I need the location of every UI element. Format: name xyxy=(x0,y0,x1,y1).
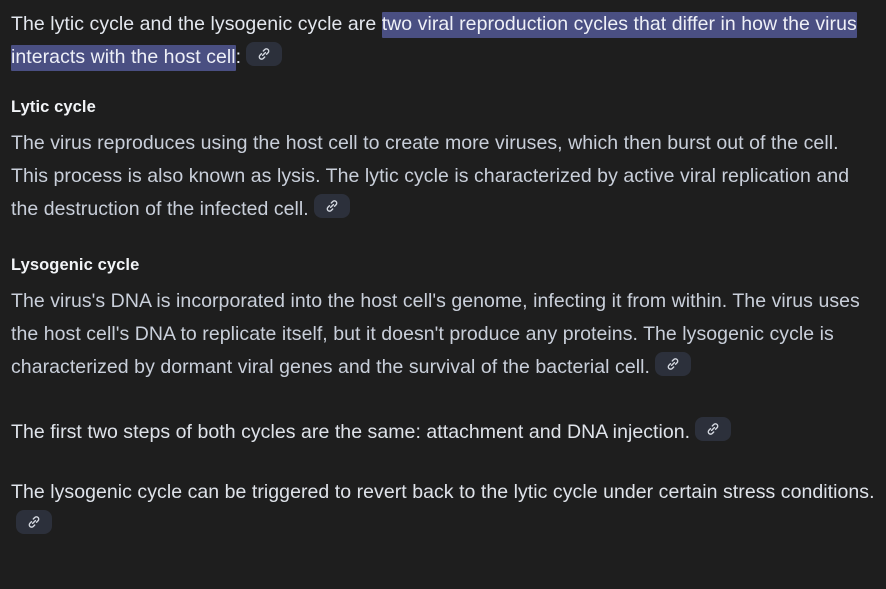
section-body-lysogenic-text: The virus's DNA is incorporated into the… xyxy=(11,290,860,378)
section-body-lytic-text: The virus reproduces using the host cell… xyxy=(11,132,849,220)
note-paragraph-2: The lysogenic cycle can be triggered to … xyxy=(11,476,875,542)
link-icon[interactable] xyxy=(16,510,52,534)
lead-text-after: : xyxy=(236,46,241,68)
link-icon[interactable] xyxy=(246,42,282,66)
link-icon[interactable] xyxy=(655,352,691,376)
link-icon[interactable] xyxy=(314,194,350,218)
note-paragraph-1-text: The first two steps of both cycles are t… xyxy=(11,421,690,443)
section-heading-lysogenic: Lysogenic cycle xyxy=(11,254,875,276)
link-icon[interactable] xyxy=(695,417,731,441)
note-paragraph-2-text: The lysogenic cycle can be triggered to … xyxy=(11,481,875,503)
lead-text-before: The lytic cycle and the lysogenic cycle … xyxy=(11,13,382,35)
section-body-lysogenic: The virus's DNA is incorporated into the… xyxy=(11,285,875,384)
note-paragraph-1: The first two steps of both cycles are t… xyxy=(11,416,875,449)
section-body-lytic: The virus reproduces using the host cell… xyxy=(11,127,875,226)
lead-paragraph: The lytic cycle and the lysogenic cycle … xyxy=(11,8,875,74)
answer-panel: The lytic cycle and the lysogenic cycle … xyxy=(0,0,886,589)
section-heading-lytic: Lytic cycle xyxy=(11,96,875,118)
